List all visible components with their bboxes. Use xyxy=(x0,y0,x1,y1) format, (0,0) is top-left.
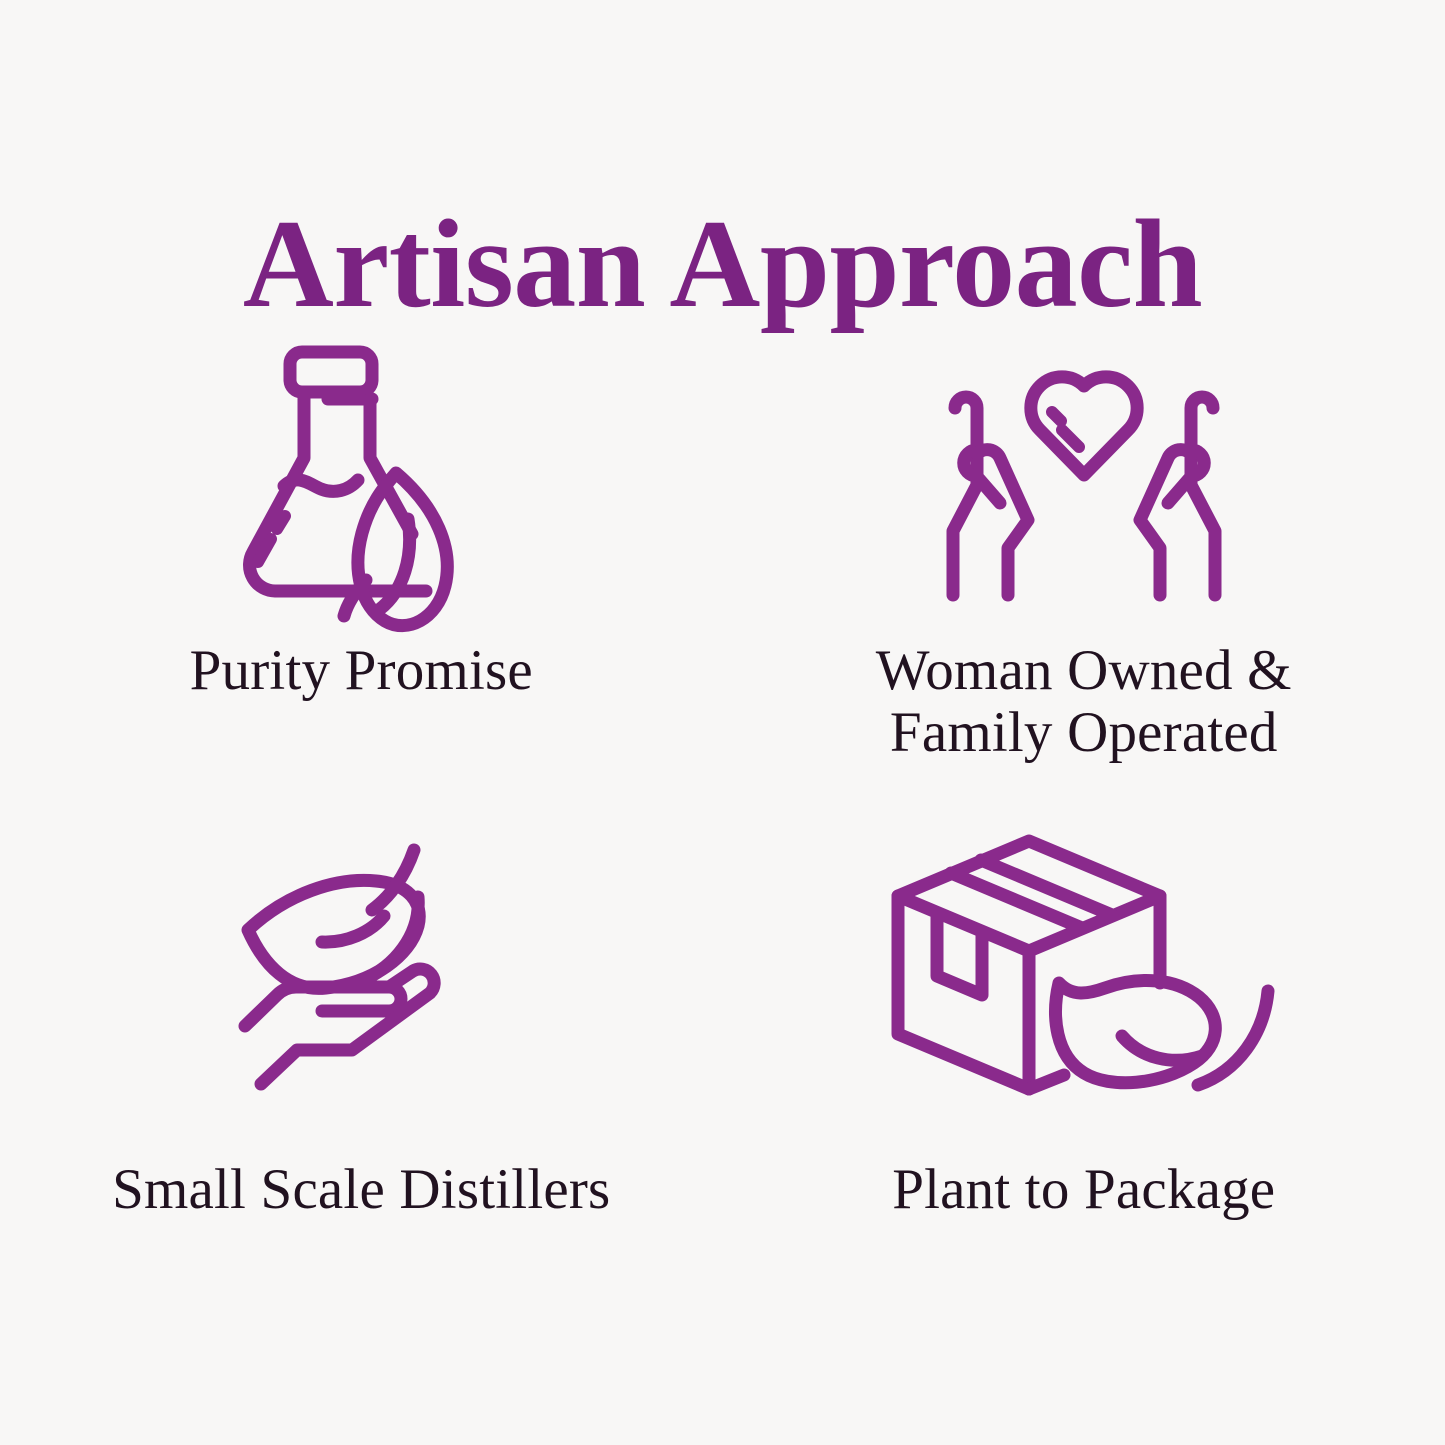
hands-heart-icon xyxy=(884,330,1284,630)
feature-label: Woman Owned & Family Operated xyxy=(876,640,1292,763)
feature-label: Purity Promise xyxy=(190,640,533,702)
feature-item-purity-promise: Purity Promise xyxy=(0,330,723,835)
feature-item-woman-owned: Woman Owned & Family Operated xyxy=(723,330,1445,835)
page-title: Artisan Approach xyxy=(0,196,1445,335)
feature-label: Small Scale Distillers xyxy=(112,1159,610,1221)
feature-grid: Purity Promise xyxy=(0,330,1445,1340)
leaf-in-hand-icon xyxy=(161,835,561,1097)
box-leaf-icon xyxy=(884,835,1284,1097)
feature-item-plant-to-package: Plant to Package xyxy=(723,835,1445,1340)
feature-item-small-scale-distillers: Small Scale Distillers xyxy=(0,835,723,1340)
feature-label: Plant to Package xyxy=(892,1159,1275,1221)
artisan-approach-panel: Artisan Approach xyxy=(0,0,1445,1445)
flask-leaf-icon xyxy=(161,330,561,630)
